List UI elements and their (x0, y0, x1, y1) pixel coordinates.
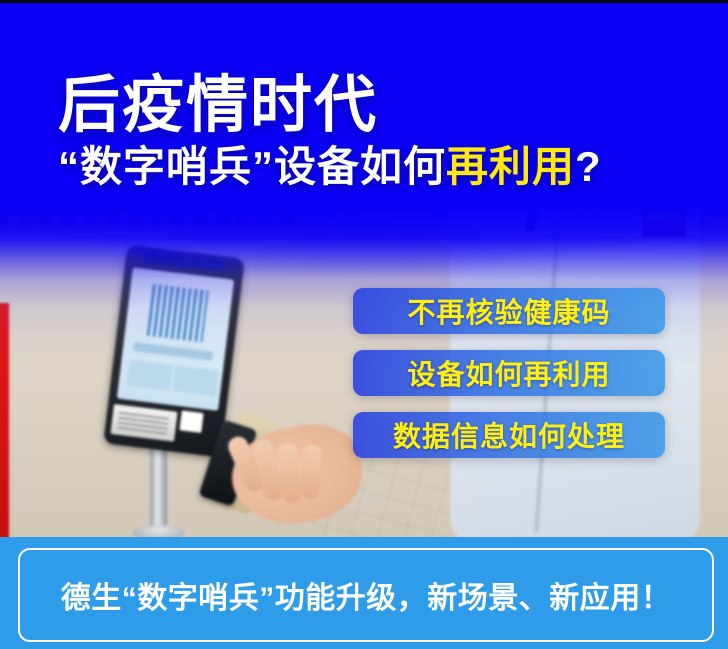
bottom-banner-text: 德生“数字哨兵”功能升级，新场景、新应用！ (61, 573, 672, 617)
bottom-banner-frame: 德生“数字哨兵”功能升级，新场景、新应用！ (18, 548, 714, 642)
top-strip (0, 0, 728, 3)
pill-device-reuse-label: 设备如何再利用 (407, 353, 610, 393)
headline-line-2-prefix: “数字哨兵”设备如何 (58, 143, 446, 190)
headline-line-2: “数字哨兵”设备如何再利用? (58, 145, 678, 189)
poster: 后疫情时代 “数字哨兵”设备如何再利用? 不再核验健康码 设备如何再利用 数据信… (0, 0, 728, 649)
topic-pill-list: 不再核验健康码 设备如何再利用 数据信息如何处理 (353, 288, 665, 458)
pill-health-code-label: 不再核验健康码 (407, 291, 610, 331)
headline-line-1: 后疫情时代 (58, 74, 678, 137)
pill-device-reuse[interactable]: 设备如何再利用 (353, 350, 665, 396)
headline-question-mark: ? (575, 143, 602, 190)
headline-block: 后疫情时代 “数字哨兵”设备如何再利用? (58, 74, 678, 189)
pill-data-handling[interactable]: 数据信息如何处理 (353, 412, 665, 458)
bottom-banner: 德生“数字哨兵”功能升级，新场景、新应用！ (0, 537, 728, 649)
pill-data-handling-label: 数据信息如何处理 (393, 415, 625, 455)
headline-highlight: 再利用 (446, 143, 575, 190)
pill-health-code[interactable]: 不再核验健康码 (353, 288, 665, 334)
